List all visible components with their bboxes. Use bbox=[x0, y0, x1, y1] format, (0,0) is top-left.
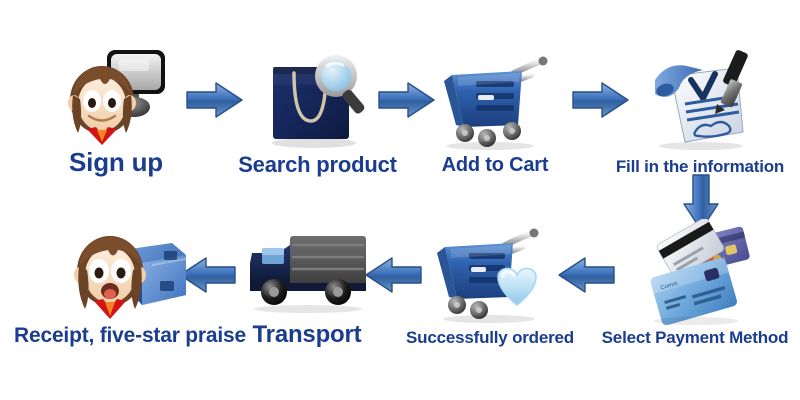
step-label: Select Payment Method bbox=[602, 329, 789, 347]
step-label: Search product bbox=[238, 153, 397, 176]
step-label: Successfully ordered bbox=[406, 329, 574, 347]
step-label: Add to Cart bbox=[442, 155, 549, 176]
step-label: Transport bbox=[253, 322, 362, 347]
flowchart-canvas: Sign up bbox=[0, 0, 800, 400]
delivery-truck-icon bbox=[242, 223, 372, 318]
step-node-select-payment-method[interactable]: Comm Select Payment Method bbox=[595, 212, 795, 347]
user-with-monitor-icon bbox=[61, 45, 171, 145]
step-label: Receipt, five-star praise bbox=[14, 325, 246, 347]
credit-cards-icon: Comm bbox=[634, 219, 756, 325]
cart-with-heart-icon bbox=[431, 219, 549, 325]
step-node-fill-information[interactable]: Fill in the information bbox=[605, 32, 795, 176]
step-label: Sign up bbox=[69, 149, 163, 176]
step-node-sign-up[interactable]: Sign up bbox=[36, 36, 196, 176]
shopping-bag-with-magnifier-icon bbox=[264, 49, 372, 149]
step-node-add-to-cart[interactable]: Add to Cart bbox=[425, 32, 565, 176]
form-with-pen-icon bbox=[641, 46, 759, 154]
step-node-transport[interactable]: Transport bbox=[232, 216, 382, 347]
shopping-cart-icon bbox=[438, 45, 553, 151]
step-node-successfully-ordered[interactable]: Successfully ordered bbox=[400, 212, 580, 347]
user-with-packages-icon bbox=[68, 221, 193, 321]
step-node-receipt-praise[interactable]: Receipt, five-star praise bbox=[10, 216, 250, 347]
